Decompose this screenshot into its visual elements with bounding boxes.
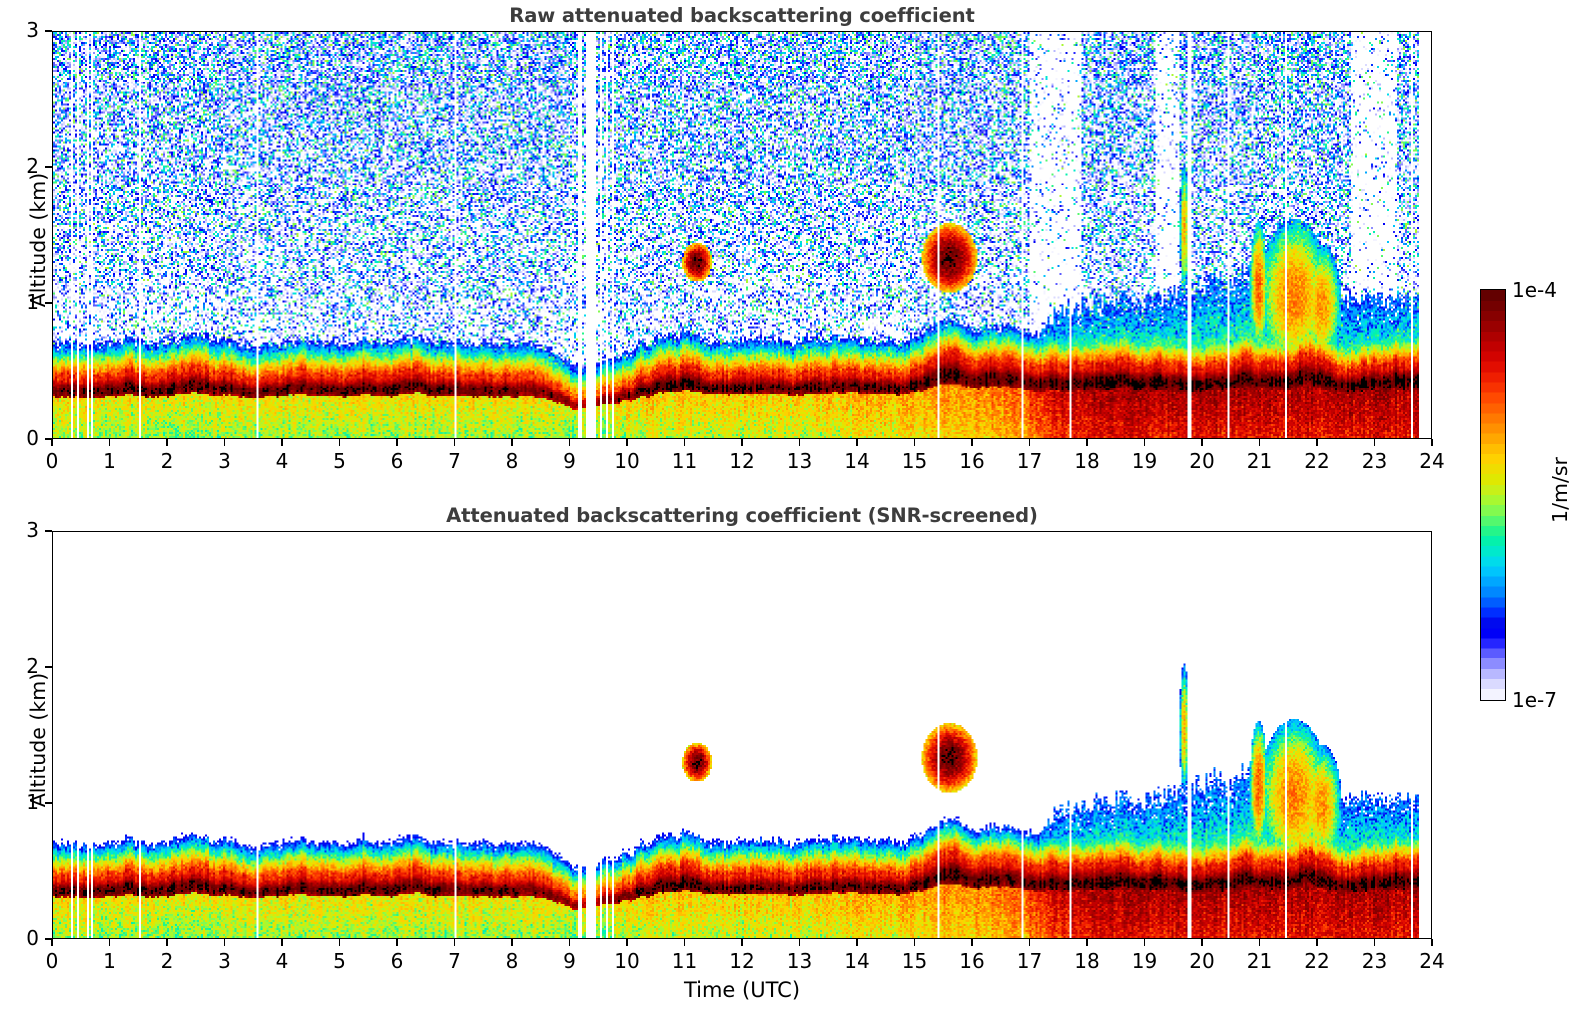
y-tick bbox=[45, 938, 52, 940]
x-tick-label: 24 bbox=[1410, 949, 1454, 973]
x-tick-label: 8 bbox=[490, 449, 534, 473]
x-tick bbox=[51, 439, 53, 446]
heatmap-image-raw bbox=[53, 32, 1431, 438]
x-tick-label: 9 bbox=[548, 449, 592, 473]
x-tick bbox=[626, 439, 628, 446]
panel-title-screened: Attenuated backscattering coefficient (S… bbox=[52, 504, 1432, 527]
x-tick bbox=[1431, 439, 1433, 446]
x-tick-label: 7 bbox=[433, 949, 477, 973]
x-tick-label: 11 bbox=[663, 949, 707, 973]
x-tick bbox=[799, 439, 801, 446]
x-tick bbox=[971, 439, 973, 446]
colorbar-unit-label: 1/m/sr bbox=[1548, 400, 1572, 580]
x-tick bbox=[1431, 939, 1433, 946]
x-tick-label: 12 bbox=[720, 949, 764, 973]
x-tick bbox=[1029, 439, 1031, 446]
y-tick-label: 1 bbox=[5, 790, 39, 814]
y-tick-label: 0 bbox=[5, 926, 39, 950]
x-tick-label: 1 bbox=[88, 449, 132, 473]
x-tick bbox=[339, 939, 341, 946]
x-tick bbox=[684, 439, 686, 446]
x-tick-label: 23 bbox=[1353, 449, 1397, 473]
y-tick-label: 2 bbox=[5, 654, 39, 678]
x-tick-label: 16 bbox=[950, 449, 994, 473]
x-tick bbox=[281, 939, 283, 946]
x-tick bbox=[109, 439, 111, 446]
colorbar-max-label: 1e-4 bbox=[1512, 278, 1557, 302]
y-tick bbox=[45, 530, 52, 532]
x-tick bbox=[1259, 939, 1261, 946]
x-tick bbox=[109, 939, 111, 946]
x-tick bbox=[1144, 939, 1146, 946]
x-tick-label: 14 bbox=[835, 949, 879, 973]
x-tick-label: 21 bbox=[1238, 449, 1282, 473]
x-tick-label: 13 bbox=[778, 449, 822, 473]
x-tick bbox=[799, 939, 801, 946]
x-tick bbox=[741, 939, 743, 946]
x-tick bbox=[281, 439, 283, 446]
x-tick bbox=[914, 939, 916, 946]
y-tick bbox=[45, 302, 52, 304]
x-tick bbox=[1086, 439, 1088, 446]
x-tick bbox=[856, 939, 858, 946]
x-tick bbox=[914, 439, 916, 446]
x-tick-label: 23 bbox=[1353, 949, 1397, 973]
x-tick bbox=[396, 439, 398, 446]
x-tick-label: 5 bbox=[318, 449, 362, 473]
x-tick bbox=[1029, 939, 1031, 946]
x-tick-label: 18 bbox=[1065, 949, 1109, 973]
y-tick-label: 3 bbox=[5, 518, 39, 542]
x-tick bbox=[1086, 939, 1088, 946]
x-tick-label: 2 bbox=[145, 949, 189, 973]
y-tick-label: 0 bbox=[5, 426, 39, 450]
x-tick bbox=[626, 939, 628, 946]
x-tick bbox=[51, 939, 53, 946]
y-tick bbox=[45, 438, 52, 440]
colorbar-gradient bbox=[1480, 289, 1506, 701]
x-tick-label: 17 bbox=[1008, 449, 1052, 473]
x-tick-label: 11 bbox=[663, 449, 707, 473]
x-tick-label: 16 bbox=[950, 949, 994, 973]
x-tick bbox=[684, 939, 686, 946]
x-tick bbox=[339, 439, 341, 446]
x-tick-label: 4 bbox=[260, 449, 304, 473]
x-tick-label: 6 bbox=[375, 449, 419, 473]
x-tick-label: 22 bbox=[1295, 949, 1339, 973]
x-tick-label: 19 bbox=[1123, 449, 1167, 473]
x-tick-label: 6 bbox=[375, 949, 419, 973]
x-tick bbox=[224, 439, 226, 446]
x-tick bbox=[511, 939, 513, 946]
x-tick-label: 17 bbox=[1008, 949, 1052, 973]
x-tick bbox=[971, 939, 973, 946]
y-tick bbox=[45, 666, 52, 668]
x-tick-label: 21 bbox=[1238, 949, 1282, 973]
colorbar[interactable] bbox=[1480, 289, 1506, 701]
x-tick-label: 20 bbox=[1180, 949, 1224, 973]
x-tick bbox=[1201, 439, 1203, 446]
x-tick-label: 15 bbox=[893, 949, 937, 973]
y-tick bbox=[45, 30, 52, 32]
figure-canvas: Raw attenuated backscattering coefficien… bbox=[0, 0, 1595, 1020]
x-tick-label: 22 bbox=[1295, 449, 1339, 473]
heatmap-panel-screened[interactable] bbox=[52, 531, 1432, 939]
x-tick bbox=[454, 439, 456, 446]
x-tick-label: 24 bbox=[1410, 449, 1454, 473]
x-tick bbox=[856, 439, 858, 446]
x-tick-label: 18 bbox=[1065, 449, 1109, 473]
x-tick bbox=[569, 939, 571, 946]
x-tick bbox=[1374, 439, 1376, 446]
x-tick-label: 10 bbox=[605, 449, 649, 473]
y-tick-label: 3 bbox=[5, 18, 39, 42]
x-tick bbox=[224, 939, 226, 946]
x-tick bbox=[741, 439, 743, 446]
x-tick-label: 3 bbox=[203, 449, 247, 473]
x-tick-label: 3 bbox=[203, 949, 247, 973]
x-tick bbox=[1201, 939, 1203, 946]
x-tick bbox=[569, 439, 571, 446]
y-tick bbox=[45, 166, 52, 168]
x-tick-label: 7 bbox=[433, 449, 477, 473]
heatmap-panel-raw[interactable] bbox=[52, 31, 1432, 439]
x-tick-label: 12 bbox=[720, 449, 764, 473]
x-tick-label: 13 bbox=[778, 949, 822, 973]
x-tick-label: 2 bbox=[145, 449, 189, 473]
x-tick-label: 19 bbox=[1123, 949, 1167, 973]
x-axis-title: Time (UTC) bbox=[52, 978, 1432, 1002]
x-tick-label: 9 bbox=[548, 949, 592, 973]
x-tick bbox=[1144, 439, 1146, 446]
x-tick-label: 10 bbox=[605, 949, 649, 973]
panel-title-raw: Raw attenuated backscattering coefficien… bbox=[52, 4, 1432, 27]
heatmap-image-screened bbox=[53, 532, 1431, 938]
y-tick-label: 2 bbox=[5, 154, 39, 178]
y-tick-label: 1 bbox=[5, 290, 39, 314]
x-tick-label: 0 bbox=[30, 949, 74, 973]
x-tick-label: 5 bbox=[318, 949, 362, 973]
y-tick bbox=[45, 802, 52, 804]
colorbar-min-label: 1e-7 bbox=[1512, 688, 1557, 712]
x-tick bbox=[511, 439, 513, 446]
x-tick-label: 4 bbox=[260, 949, 304, 973]
x-tick bbox=[454, 939, 456, 946]
x-tick bbox=[1374, 939, 1376, 946]
x-tick-label: 0 bbox=[30, 449, 74, 473]
x-tick bbox=[166, 939, 168, 946]
x-tick bbox=[1316, 439, 1318, 446]
x-tick bbox=[166, 439, 168, 446]
x-tick bbox=[1316, 939, 1318, 946]
x-tick-label: 8 bbox=[490, 949, 534, 973]
x-tick-label: 1 bbox=[88, 949, 132, 973]
x-tick bbox=[396, 939, 398, 946]
x-tick bbox=[1259, 439, 1261, 446]
x-tick-label: 14 bbox=[835, 449, 879, 473]
x-tick-label: 20 bbox=[1180, 449, 1224, 473]
x-tick-label: 15 bbox=[893, 449, 937, 473]
